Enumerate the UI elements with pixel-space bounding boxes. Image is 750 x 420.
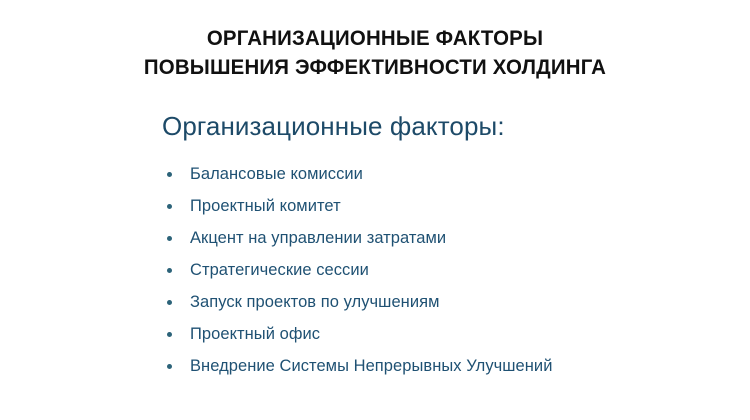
list-item: Акцент на управлении затратами [162, 222, 722, 254]
bullet-dot-icon [167, 204, 172, 209]
list-item-label: Балансовые комиссии [190, 158, 363, 190]
list-item: Стратегические сессии [162, 254, 722, 286]
list-item-label: Стратегические сессии [190, 254, 369, 286]
list-item-label: Проектный комитет [190, 190, 341, 222]
section-heading: Организационные факторы: [162, 110, 722, 142]
list-item: Проектный комитет [162, 190, 722, 222]
bullet-dot-icon [167, 236, 172, 241]
bullet-list: Балансовые комиссии Проектный комитет Ак… [162, 158, 722, 382]
bullet-dot-icon [167, 268, 172, 273]
list-item-label: Проектный офис [190, 318, 320, 350]
list-item: Проектный офис [162, 318, 722, 350]
bullet-dot-icon [167, 364, 172, 369]
bullet-dot-icon [167, 300, 172, 305]
bullet-dot-icon [167, 332, 172, 337]
list-item: Балансовые комиссии [162, 158, 722, 190]
list-item: Запуск проектов по улучшениям [162, 286, 722, 318]
list-item-label: Внедрение Системы Непрерывных Улучшений [190, 350, 552, 382]
list-item-label: Запуск проектов по улучшениям [190, 286, 440, 318]
slide-content: Организационные факторы: Балансовые коми… [162, 110, 722, 382]
bullet-dot-icon [167, 172, 172, 177]
list-item: Внедрение Системы Непрерывных Улучшений [162, 350, 722, 382]
presentation-slide: ОРГАНИЗАЦИОННЫЕ ФАКТОРЫ ПОВЫШЕНИЯ ЭФФЕКТ… [0, 0, 750, 420]
slide-title-line-2: ПОВЫШЕНИЯ ЭФФЕКТИВНОСТИ ХОЛДИНГА [19, 53, 732, 82]
slide-title-line-1: ОРГАНИЗАЦИОННЫЕ ФАКТОРЫ [19, 24, 732, 53]
list-item-label: Акцент на управлении затратами [190, 222, 446, 254]
slide-title: ОРГАНИЗАЦИОННЫЕ ФАКТОРЫ ПОВЫШЕНИЯ ЭФФЕКТ… [19, 24, 732, 82]
